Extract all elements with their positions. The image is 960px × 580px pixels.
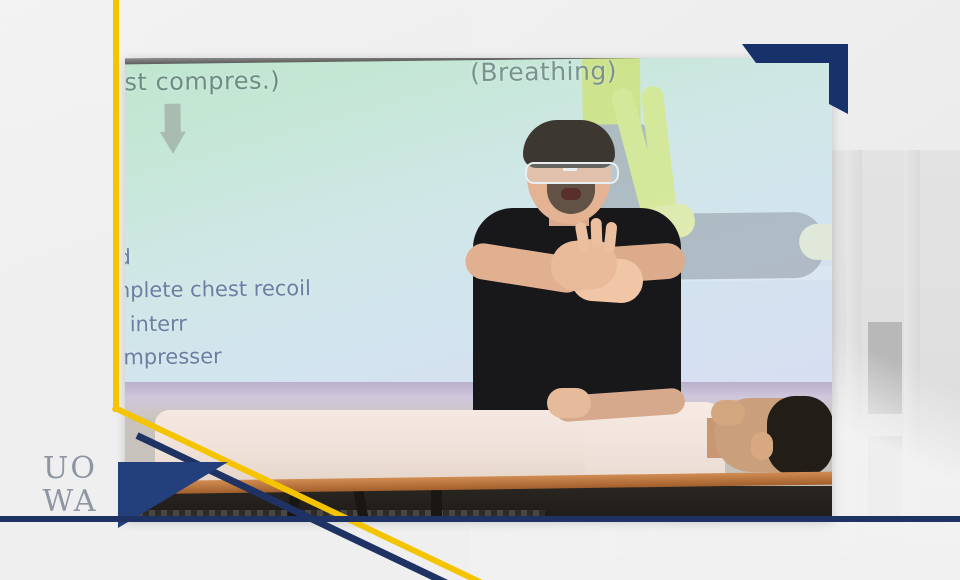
building-window <box>866 320 904 416</box>
slide-bullet: ompresser <box>125 339 312 375</box>
glasses-bridge <box>563 168 577 171</box>
safety-glasses-icon <box>525 162 619 184</box>
slide-bullet: t <box>125 206 310 242</box>
bracket-vertical <box>829 44 848 114</box>
poster-canvas: est compres.) (Breathing) t rd mplete ch… <box>0 0 960 580</box>
facade-window <box>520 532 594 580</box>
yellow-vertical-rule <box>113 0 119 412</box>
main-photo: est compres.) (Breathing) t rd mplete ch… <box>125 58 832 520</box>
instructor-hair <box>523 120 615 168</box>
facade-column <box>760 520 772 580</box>
logo-line-1: UO <box>27 452 113 485</box>
slide-bullet-list: t rd mplete chest recoil e interr ompres… <box>125 206 312 374</box>
logo-line-2: WA <box>27 485 113 518</box>
instructor-finger <box>590 218 602 248</box>
instructor-mouth <box>561 188 581 200</box>
uowa-logo: UO WA <box>27 452 113 526</box>
participant-hair <box>767 396 832 476</box>
victim-legs <box>799 223 832 260</box>
navy-corner-bracket <box>742 44 848 114</box>
slide-bullet: rd <box>125 239 311 275</box>
down-arrow-icon <box>159 104 184 152</box>
participant-chin <box>711 400 745 426</box>
navy-horizontal-rule <box>0 516 960 522</box>
slide-heading-right: (Breathing) <box>470 58 617 87</box>
arrow-shaft <box>164 104 180 134</box>
slide-heading-left: est compres.) <box>125 66 280 96</box>
arrow-head <box>160 132 186 154</box>
slide-bullet: mplete chest recoil <box>125 272 311 308</box>
slide-bullet: e interr <box>125 306 311 342</box>
participant-ear <box>751 432 773 460</box>
participant-hand <box>547 388 591 418</box>
